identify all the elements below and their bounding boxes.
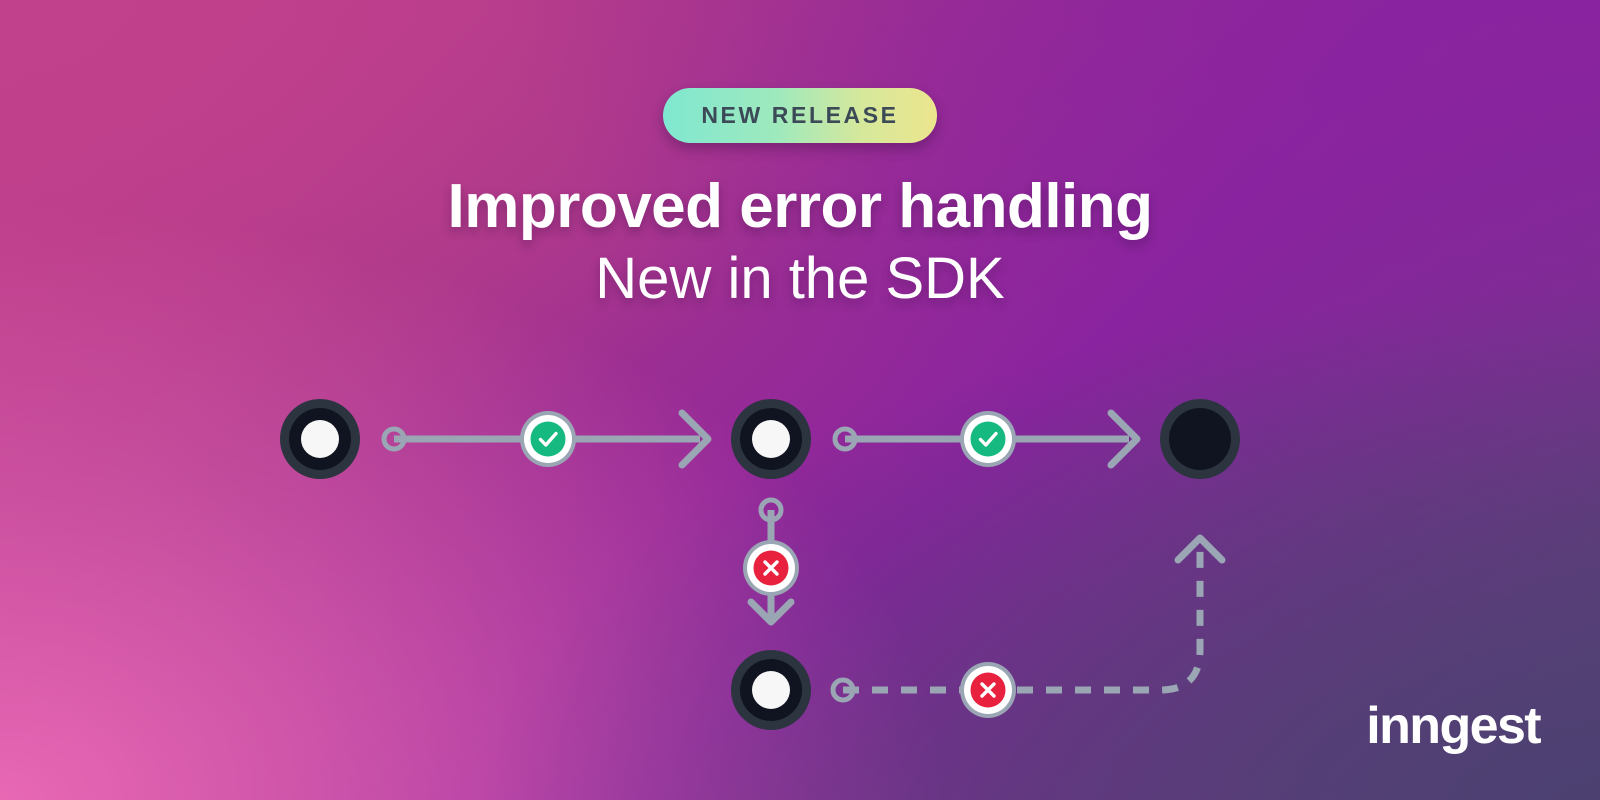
status-badge-success[interactable] (520, 411, 576, 467)
status-badge-success[interactable] (960, 411, 1016, 467)
node-start[interactable] (280, 399, 360, 479)
node-dot (752, 420, 790, 458)
status-badge-error[interactable] (743, 540, 799, 596)
status-badge-error[interactable] (960, 662, 1016, 718)
node-dot (301, 420, 339, 458)
inngest-logo: inngest (1366, 700, 1540, 752)
success-disc (971, 422, 1006, 457)
success-disc (531, 422, 566, 457)
node-end[interactable] (1160, 399, 1240, 479)
workflow-diagram (0, 0, 1600, 800)
node-error-branch[interactable] (731, 650, 811, 730)
node-core (1169, 408, 1231, 470)
promo-banner: NEW RELEASE Improved error handling New … (0, 0, 1600, 800)
node-dot (752, 671, 790, 709)
node-middle[interactable] (731, 399, 811, 479)
edge-error-retry-to-end (843, 544, 1200, 690)
